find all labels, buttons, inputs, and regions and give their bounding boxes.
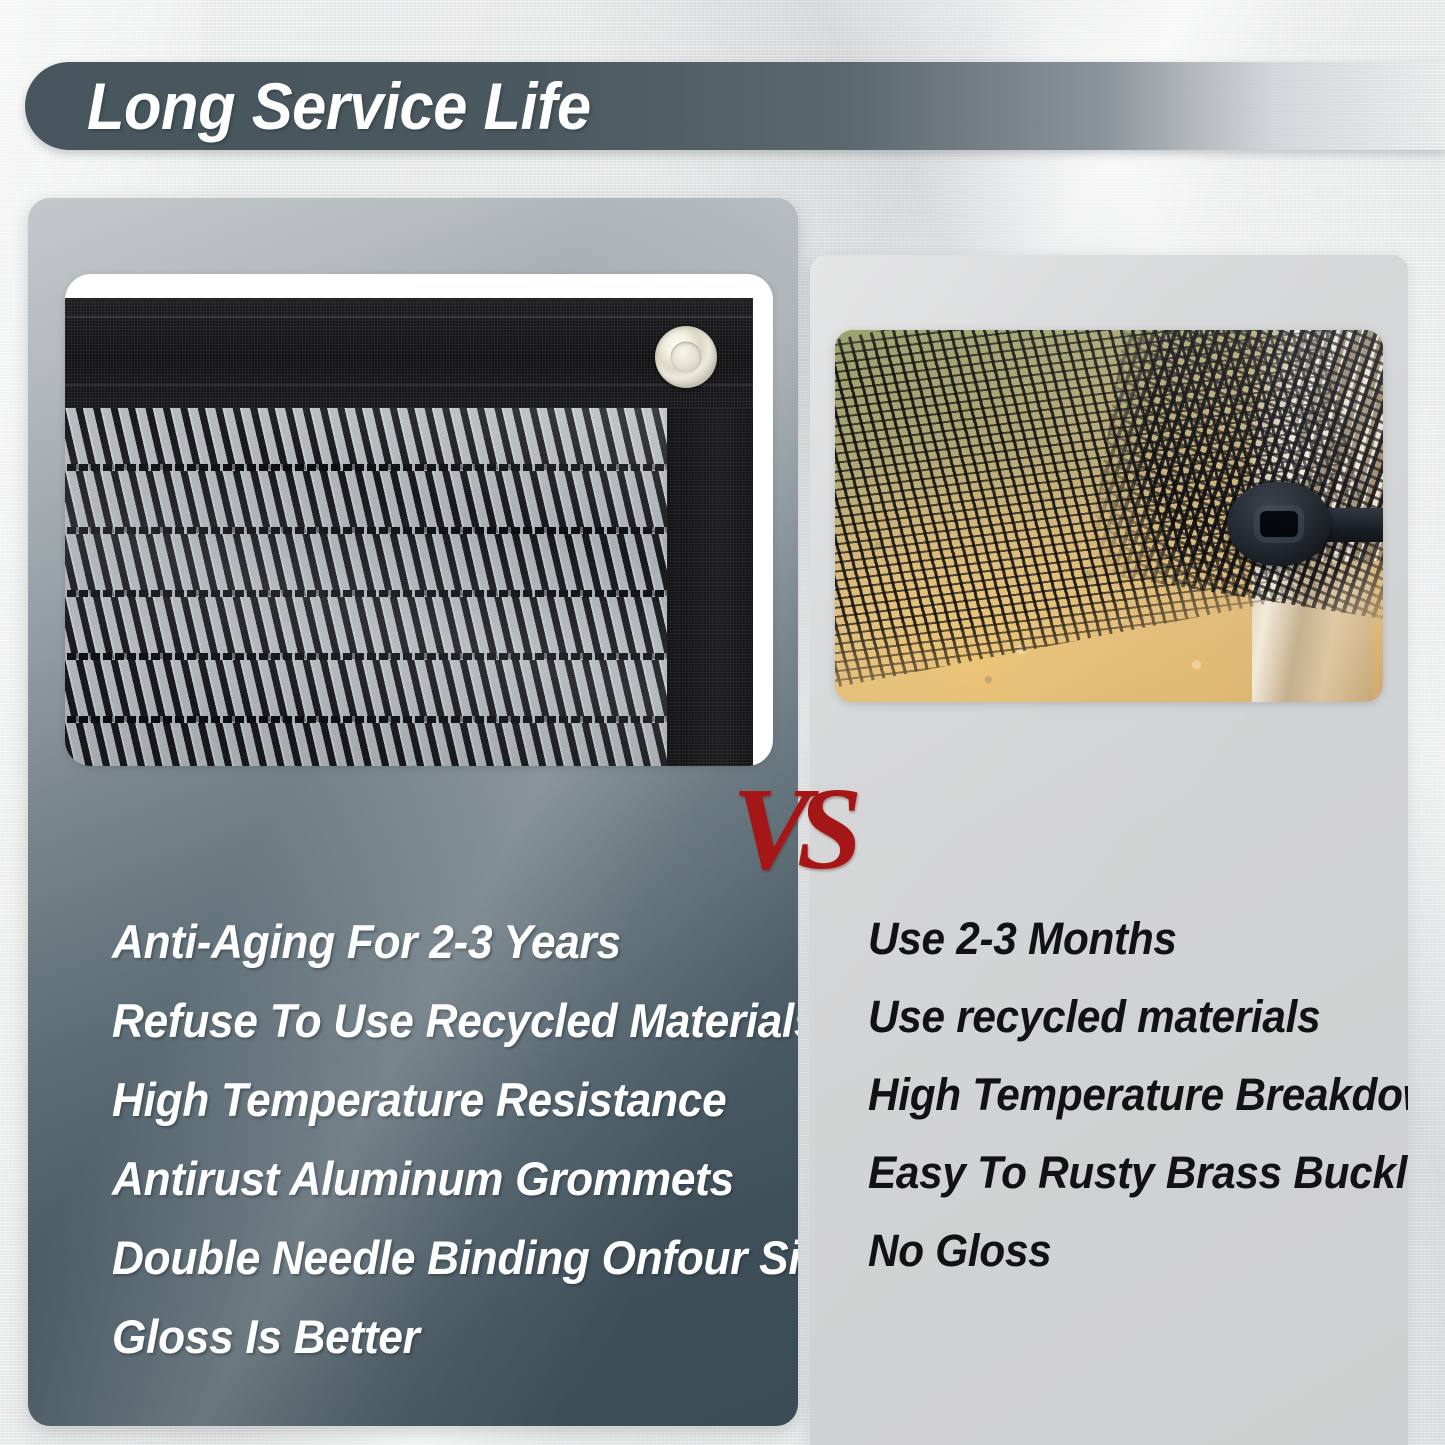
feature-item: High Temperature Breakdown	[868, 1069, 1376, 1121]
feature-item: Use 2-3 Months	[868, 913, 1376, 965]
feature-item: High Temperature Resistance	[112, 1072, 751, 1127]
aluminum-grommet-icon	[655, 326, 717, 388]
other-product-photo	[835, 330, 1383, 702]
plastic-buckle-icon	[1227, 482, 1331, 566]
our-product-photo-frame	[65, 274, 773, 766]
our-product-photo	[65, 298, 753, 766]
infographic-root: Long Service Life	[0, 0, 1445, 1445]
feature-item: Gloss Is Better	[112, 1309, 751, 1364]
shade-cloth-mesh	[65, 408, 667, 766]
shade-cloth-hem-band	[65, 298, 753, 408]
feature-item: Easy To Rusty Brass Buckle	[868, 1147, 1376, 1199]
panel-other-product: Use 2-3 Months Use recycled materials Hi…	[810, 255, 1408, 1445]
degraded-netting-edge	[1086, 330, 1383, 620]
feature-item: Double Needle Binding Onfour Sides	[112, 1230, 751, 1285]
our-product-feature-list: Anti-Aging For 2-3 Years Refuse To Use R…	[112, 914, 792, 1388]
feature-item: Refuse To Use Recycled Materials	[112, 993, 751, 1048]
panel-our-product: Anti-Aging For 2-3 Years Refuse To Use R…	[28, 198, 798, 1426]
feature-item: Use recycled materials	[868, 991, 1376, 1043]
feature-item: No Gloss	[868, 1225, 1376, 1277]
page-title: Long Service Life	[87, 68, 591, 144]
feature-item: Antirust Aluminum Grommets	[112, 1151, 751, 1206]
title-banner: Long Service Life	[25, 62, 1445, 150]
other-product-feature-list: Use 2-3 Months Use recycled materials Hi…	[868, 913, 1408, 1303]
feature-item: Anti-Aging For 2-3 Years	[112, 914, 751, 969]
